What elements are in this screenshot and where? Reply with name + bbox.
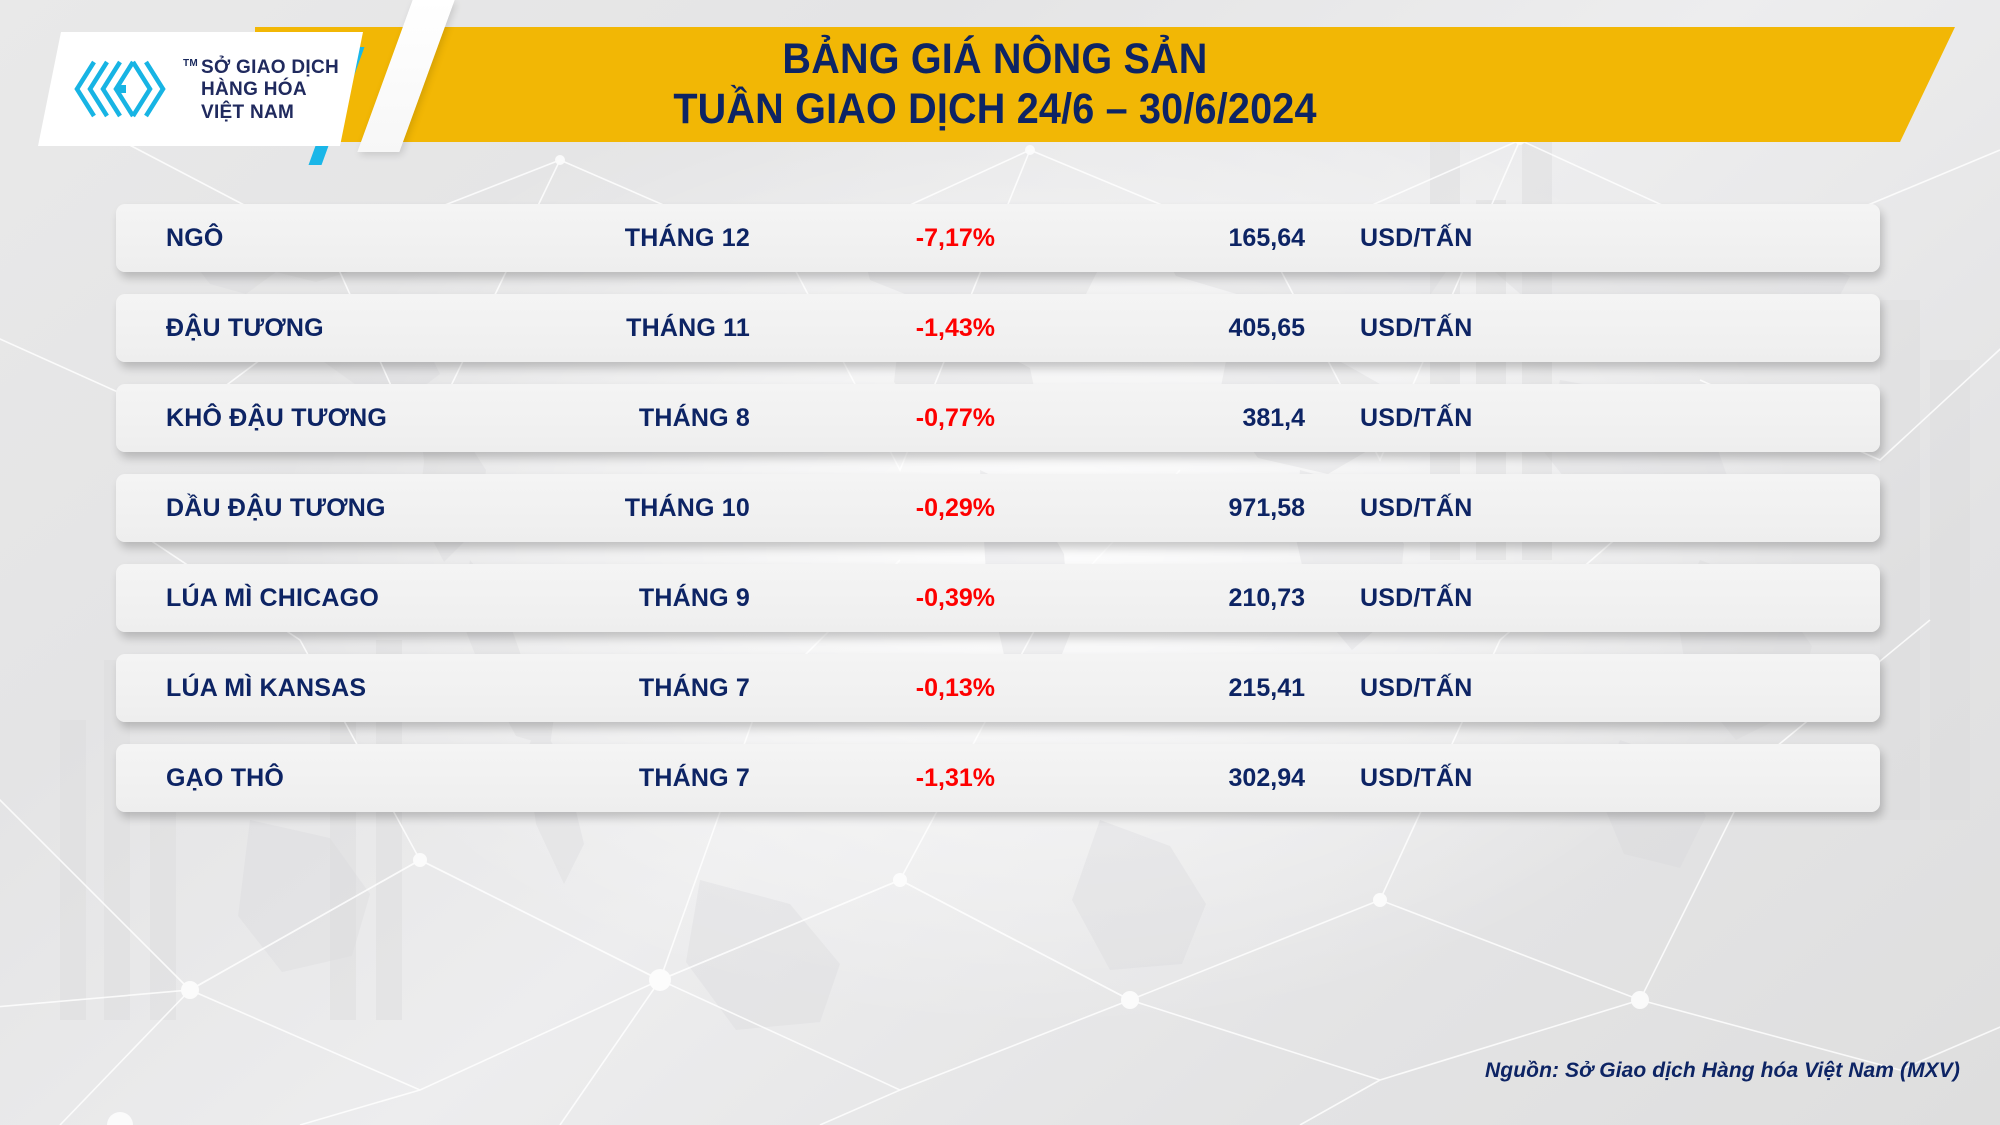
- trademark-symbol: TM: [183, 58, 198, 69]
- logo-line-3: VIỆT NAM: [201, 102, 339, 124]
- price-unit: USD/TẤN: [1305, 764, 1625, 793]
- table-row: KHÔ ĐẬU TƯƠNGTHÁNG 8-0,77%381,4USD/TẤN: [116, 384, 1880, 452]
- price-value: 381,4: [1020, 404, 1305, 433]
- price-value: 405,65: [1020, 314, 1305, 343]
- price-change: -0,13%: [750, 674, 1020, 703]
- table-row: DẦU ĐẬU TƯƠNGTHÁNG 10-0,29%971,58USD/TẤN: [116, 474, 1880, 542]
- table-row: LÚA MÌ CHICAGOTHÁNG 9-0,39%210,73USD/TẤN: [116, 564, 1880, 632]
- price-value: 215,41: [1020, 674, 1305, 703]
- commodity-name: DẦU ĐẬU TƯƠNG: [116, 494, 468, 523]
- price-unit: USD/TẤN: [1305, 674, 1625, 703]
- contract-month: THÁNG 7: [468, 764, 750, 793]
- source-attribution: Nguồn: Sở Giao dịch Hàng hóa Việt Nam (M…: [1485, 1059, 1960, 1083]
- price-change: -1,31%: [750, 764, 1020, 793]
- contract-month: THÁNG 7: [468, 674, 750, 703]
- price-value: 165,64: [1020, 224, 1305, 253]
- mxv-chevron-logo-icon: [74, 58, 174, 120]
- commodity-name: GẠO THÔ: [116, 764, 468, 793]
- commodity-name: KHÔ ĐẬU TƯƠNG: [116, 404, 468, 433]
- price-change: -0,77%: [750, 404, 1020, 433]
- price-unit: USD/TẤN: [1305, 404, 1625, 433]
- table-row: ĐẬU TƯƠNGTHÁNG 11-1,43%405,65USD/TẤN: [116, 294, 1880, 362]
- page-title: BẢNG GIÁ NÔNG SẢN TUẦN GIAO DỊCH 24/6 – …: [314, 27, 1676, 142]
- contract-month: THÁNG 10: [468, 494, 750, 523]
- price-board-page: BẢNG GIÁ NÔNG SẢN TUẦN GIAO DỊCH 24/6 – …: [0, 0, 2000, 1125]
- price-unit: USD/TẤN: [1305, 494, 1625, 523]
- price-unit: USD/TẤN: [1305, 224, 1625, 253]
- price-value: 971,58: [1020, 494, 1305, 523]
- title-line-2: TUẦN GIAO DỊCH 24/6 – 30/6/2024: [673, 85, 1316, 135]
- price-change: -0,39%: [750, 584, 1020, 613]
- logo-plate: TM SỞ GIAO DỊCH HÀNG HÓA VIỆT NAM: [38, 32, 363, 146]
- price-change: -7,17%: [750, 224, 1020, 253]
- logo-line-1: SỞ GIAO DỊCH: [201, 57, 339, 79]
- commodity-name: LÚA MÌ KANSAS: [116, 674, 468, 703]
- commodity-name: ĐẬU TƯƠNG: [116, 314, 468, 343]
- commodity-name: LÚA MÌ CHICAGO: [116, 584, 468, 613]
- title-banner: BẢNG GIÁ NÔNG SẢN TUẦN GIAO DỊCH 24/6 – …: [255, 27, 1955, 142]
- price-unit: USD/TẤN: [1305, 314, 1625, 343]
- page-header: BẢNG GIÁ NÔNG SẢN TUẦN GIAO DỊCH 24/6 – …: [0, 0, 2000, 168]
- price-table: NGÔTHÁNG 12-7,17%165,64USD/TẤNĐẬU TƯƠNGT…: [0, 204, 2000, 834]
- logo-wordmark: SỞ GIAO DỊCH HÀNG HÓA VIỆT NAM: [201, 57, 339, 124]
- price-change: -0,29%: [750, 494, 1020, 523]
- price-unit: USD/TẤN: [1305, 584, 1625, 613]
- price-value: 302,94: [1020, 764, 1305, 793]
- contract-month: THÁNG 11: [468, 314, 750, 343]
- logo-line-2: HÀNG HÓA: [201, 79, 339, 101]
- contract-month: THÁNG 9: [468, 584, 750, 613]
- table-row: GẠO THÔTHÁNG 7-1,31%302,94USD/TẤN: [116, 744, 1880, 812]
- title-line-1: BẢNG GIÁ NÔNG SẢN: [782, 35, 1207, 85]
- table-row: NGÔTHÁNG 12-7,17%165,64USD/TẤN: [116, 204, 1880, 272]
- contract-month: THÁNG 12: [468, 224, 750, 253]
- contract-month: THÁNG 8: [468, 404, 750, 433]
- price-change: -1,43%: [750, 314, 1020, 343]
- price-value: 210,73: [1020, 584, 1305, 613]
- table-row: LÚA MÌ KANSASTHÁNG 7-0,13%215,41USD/TẤN: [116, 654, 1880, 722]
- commodity-name: NGÔ: [116, 224, 468, 253]
